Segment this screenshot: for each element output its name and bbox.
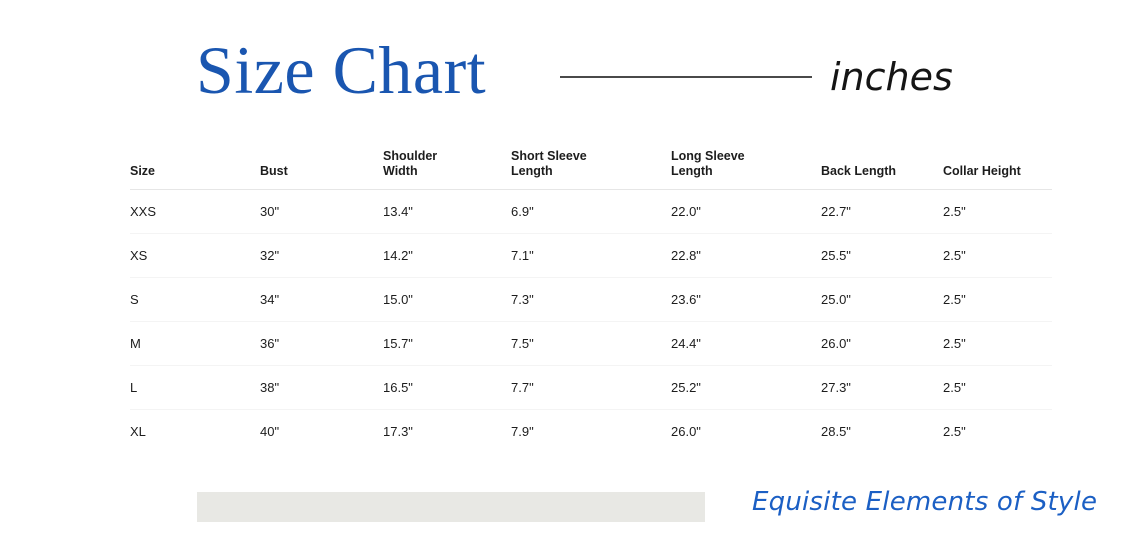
cell-back-length: 26.0" <box>821 322 943 366</box>
cell-collar-height: 2.5" <box>943 322 1052 366</box>
cell-long-sleeve-length: 22.8" <box>671 234 821 278</box>
page-title: Size Chart <box>196 36 486 104</box>
cell-long-sleeve-length: 23.6" <box>671 278 821 322</box>
table-row: S 34" 15.0" 7.3" 23.6" 25.0" 2.5" <box>130 278 1052 322</box>
cell-size: M <box>130 322 260 366</box>
column-header-back-length-line1: Back Length <box>821 164 943 180</box>
table-row: M 36" 15.7" 7.5" 24.4" 26.0" 2.5" <box>130 322 1052 366</box>
table-header-row: Size Bust Shoulder Width Short Sleeve Le… <box>130 140 1052 190</box>
column-header-long-sleeve-length-line2: Length <box>671 164 821 180</box>
cell-size: L <box>130 366 260 410</box>
cell-size: S <box>130 278 260 322</box>
table-body: XXS 30" 13.4" 6.9" 22.0" 22.7" 2.5" XS 3… <box>130 190 1052 454</box>
column-header-bust: Bust <box>260 140 383 190</box>
column-header-shoulder-width-line1: Shoulder <box>383 149 511 165</box>
column-header-long-sleeve-length-line1: Long Sleeve <box>671 149 821 165</box>
cell-back-length: 22.7" <box>821 190 943 234</box>
column-header-size-line1: Size <box>130 164 260 180</box>
cell-shoulder-width: 13.4" <box>383 190 511 234</box>
cell-bust: 38" <box>260 366 383 410</box>
cell-shoulder-width: 15.7" <box>383 322 511 366</box>
cell-short-sleeve-length: 7.1" <box>511 234 671 278</box>
cell-shoulder-width: 17.3" <box>383 410 511 454</box>
cell-bust: 34" <box>260 278 383 322</box>
table-row: XL 40" 17.3" 7.9" 26.0" 28.5" 2.5" <box>130 410 1052 454</box>
cell-back-length: 27.3" <box>821 366 943 410</box>
column-header-collar-height: Collar Height <box>943 140 1052 190</box>
table-row: L 38" 16.5" 7.7" 25.2" 27.3" 2.5" <box>130 366 1052 410</box>
cell-collar-height: 2.5" <box>943 366 1052 410</box>
column-header-bust-line1: Bust <box>260 164 383 180</box>
cell-short-sleeve-length: 7.7" <box>511 366 671 410</box>
unit-label: inches <box>830 55 953 99</box>
cell-size: XS <box>130 234 260 278</box>
chart-header: Size Chart inches <box>0 0 1131 130</box>
size-chart-table: Size Bust Shoulder Width Short Sleeve Le… <box>130 140 1052 453</box>
cell-bust: 40" <box>260 410 383 454</box>
column-header-collar-height-line1: Collar Height <box>943 164 1052 180</box>
column-header-short-sleeve-length: Short Sleeve Length <box>511 140 671 190</box>
cell-collar-height: 2.5" <box>943 278 1052 322</box>
column-header-size: Size <box>130 140 260 190</box>
cell-shoulder-width: 14.2" <box>383 234 511 278</box>
cell-short-sleeve-length: 7.3" <box>511 278 671 322</box>
cell-back-length: 25.0" <box>821 278 943 322</box>
cell-shoulder-width: 15.0" <box>383 278 511 322</box>
cell-back-length: 25.5" <box>821 234 943 278</box>
column-header-shoulder-width: Shoulder Width <box>383 140 511 190</box>
cell-long-sleeve-length: 26.0" <box>671 410 821 454</box>
cell-long-sleeve-length: 24.4" <box>671 322 821 366</box>
cell-long-sleeve-length: 25.2" <box>671 366 821 410</box>
cell-collar-height: 2.5" <box>943 410 1052 454</box>
size-table-container: Size Bust Shoulder Width Short Sleeve Le… <box>130 140 1052 453</box>
cell-bust: 36" <box>260 322 383 366</box>
column-header-back-length: Back Length <box>821 140 943 190</box>
cell-long-sleeve-length: 22.0" <box>671 190 821 234</box>
cell-collar-height: 2.5" <box>943 234 1052 278</box>
cell-size: XXS <box>130 190 260 234</box>
column-header-long-sleeve-length: Long Sleeve Length <box>671 140 821 190</box>
brand-tagline: Equisite Elements of Style <box>752 487 1097 517</box>
table-row: XS 32" 14.2" 7.1" 22.8" 25.5" 2.5" <box>130 234 1052 278</box>
cell-shoulder-width: 16.5" <box>383 366 511 410</box>
cell-bust: 32" <box>260 234 383 278</box>
table-row: XXS 30" 13.4" 6.9" 22.0" 22.7" 2.5" <box>130 190 1052 234</box>
cell-short-sleeve-length: 6.9" <box>511 190 671 234</box>
column-header-short-sleeve-length-line1: Short Sleeve <box>511 149 671 165</box>
table-header-row-group: Size Bust Shoulder Width Short Sleeve Le… <box>130 140 1052 190</box>
cell-short-sleeve-length: 7.9" <box>511 410 671 454</box>
cell-size: XL <box>130 410 260 454</box>
cell-back-length: 28.5" <box>821 410 943 454</box>
footer-accent-bar <box>197 492 705 522</box>
column-header-shoulder-width-line2: Width <box>383 164 511 180</box>
column-header-short-sleeve-length-line2: Length <box>511 164 671 180</box>
title-divider-rule <box>560 76 812 78</box>
cell-collar-height: 2.5" <box>943 190 1052 234</box>
cell-short-sleeve-length: 7.5" <box>511 322 671 366</box>
cell-bust: 30" <box>260 190 383 234</box>
